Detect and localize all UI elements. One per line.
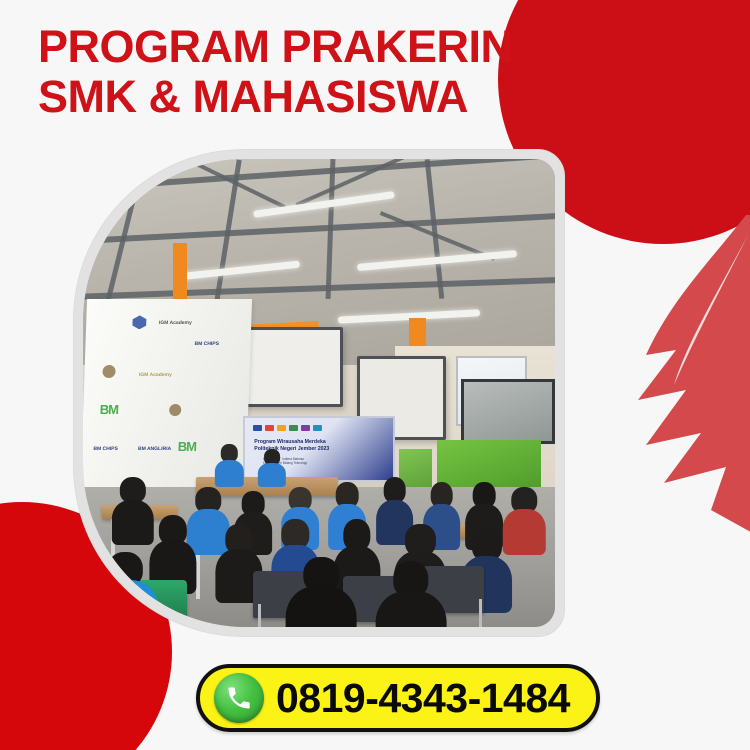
phone-handset-icon xyxy=(214,673,264,723)
bm-logo: BM xyxy=(177,440,196,455)
audience-member-foreground xyxy=(286,557,357,627)
photo-frame: IGM Academy IGM Academy BM BM CHIPS BM C… xyxy=(74,150,564,636)
person-body xyxy=(111,500,153,546)
person-body xyxy=(92,580,158,627)
whiteboard xyxy=(461,379,555,445)
contact-phone-banner[interactable]: 0819-4343-1484 xyxy=(196,664,600,732)
sponsor-banner-label: BM CHIPS xyxy=(194,342,219,348)
person-body xyxy=(376,591,447,627)
sponsor-banner-label: IGM Academy xyxy=(159,320,192,326)
bm-logo: BM xyxy=(99,402,118,417)
sponsor-banner-label: BM ANGLIRIA xyxy=(138,447,171,453)
person-body xyxy=(286,586,357,627)
audience-member-foreground xyxy=(376,561,447,627)
headline-line-2: SMK & MAHASISWA xyxy=(38,72,598,122)
slide-title-line-1: Program Wirausaha Merdeka xyxy=(254,439,325,445)
headline-block: PROGRAM PRAKERIN SMK & MAHASISWA xyxy=(38,22,598,123)
photo-scene: IGM Academy IGM Academy BM BM CHIPS BM C… xyxy=(83,159,555,627)
person-body xyxy=(215,460,243,487)
sponsor-banner-label: BM CHIPS xyxy=(93,447,118,453)
chair-frame xyxy=(479,599,482,627)
sponsor-seal-icon xyxy=(169,405,181,417)
slide-logo-row xyxy=(253,425,322,431)
sponsor-banner-label: IGM Academy xyxy=(139,372,172,378)
decorative-feather-icon xyxy=(616,205,750,545)
person-body xyxy=(258,463,286,487)
audience-member-foreground xyxy=(92,552,158,627)
phone-number-text: 0819-4343-1484 xyxy=(276,675,570,722)
headline-line-1: PROGRAM PRAKERIN xyxy=(38,22,598,72)
audience-member xyxy=(111,477,153,543)
presenter xyxy=(258,449,286,486)
poster-canvas: PROGRAM PRAKERIN SMK & MAHASISWA xyxy=(0,0,750,750)
classroom-seminar-photo: IGM Academy IGM Academy BM BM CHIPS BM C… xyxy=(83,159,555,627)
chair-frame xyxy=(258,604,261,627)
ministry-logo-icon xyxy=(132,316,146,330)
presenter xyxy=(215,444,243,486)
sponsor-seal-icon xyxy=(103,365,116,378)
